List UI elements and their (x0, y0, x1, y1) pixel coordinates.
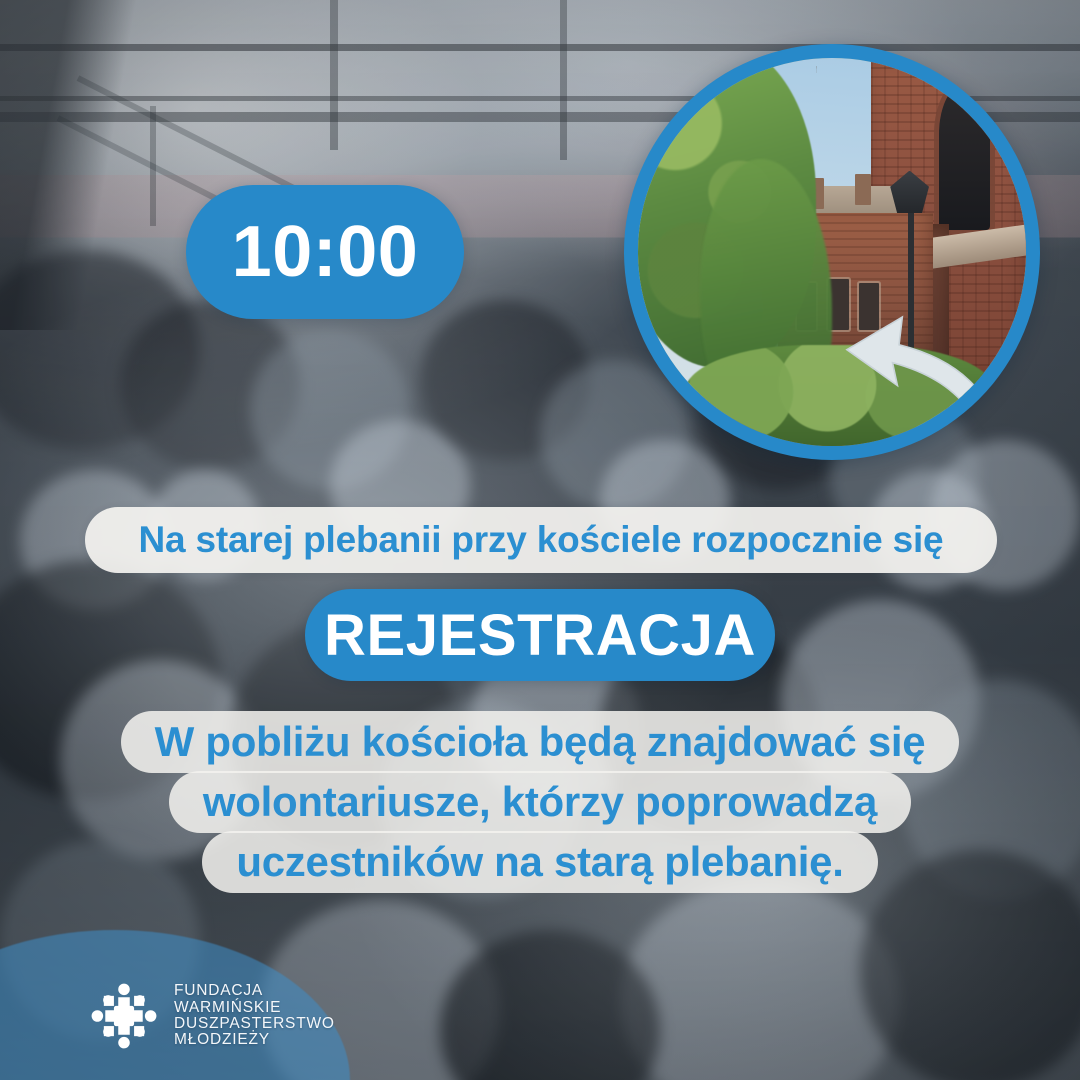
description-line: W pobliżu kościoła będą znajdować się (121, 711, 960, 773)
headline-badge-text: REJESTRACJA (324, 602, 756, 669)
logo-line: DUSZPASTERSTWO (174, 1016, 335, 1032)
logo-line: FUNDACJA (174, 983, 335, 999)
description-line-text: W pobliżu kościoła będą znajdować się (155, 721, 926, 763)
logo-line: MŁODZIEŻY (174, 1032, 335, 1048)
location-photo-circle (624, 44, 1040, 460)
chimney (855, 174, 871, 205)
description-line: uczestników na starą plebanię. (202, 831, 877, 893)
foundation-logo-text: FUNDACJA WARMIŃSKIE DUSZPASTERSTWO MŁODZ… (174, 983, 335, 1049)
intro-banner: Na starej plebanii przy kościele rozpocz… (85, 507, 997, 573)
headline-badge: REJESTRACJA (305, 589, 775, 681)
poster-canvas: 10:00 (0, 0, 1080, 1080)
description-line-text: uczestników na starą plebanię. (236, 841, 843, 883)
logo-line: WARMIŃSKIE (174, 1000, 335, 1016)
description-line: wolontariusze, którzy poprowadzą (169, 771, 911, 833)
location-photo (638, 58, 1026, 446)
intro-banner-text: Na starej plebanii przy kościele rozpocz… (139, 519, 944, 561)
description-block: W pobliżu kościoła będą znajdować się wo… (0, 712, 1080, 892)
foundation-logo: FUNDACJA WARMIŃSKIE DUSZPASTERSTWO MŁODZ… (88, 980, 335, 1052)
time-badge-label: 10:00 (232, 216, 419, 288)
pointer-arrow-icon (832, 291, 1018, 446)
cross-of-figures-icon (88, 980, 160, 1052)
gothic-window (939, 84, 990, 231)
time-badge: 10:00 (186, 185, 464, 319)
description-line-text: wolontariusze, którzy poprowadzą (203, 781, 877, 823)
